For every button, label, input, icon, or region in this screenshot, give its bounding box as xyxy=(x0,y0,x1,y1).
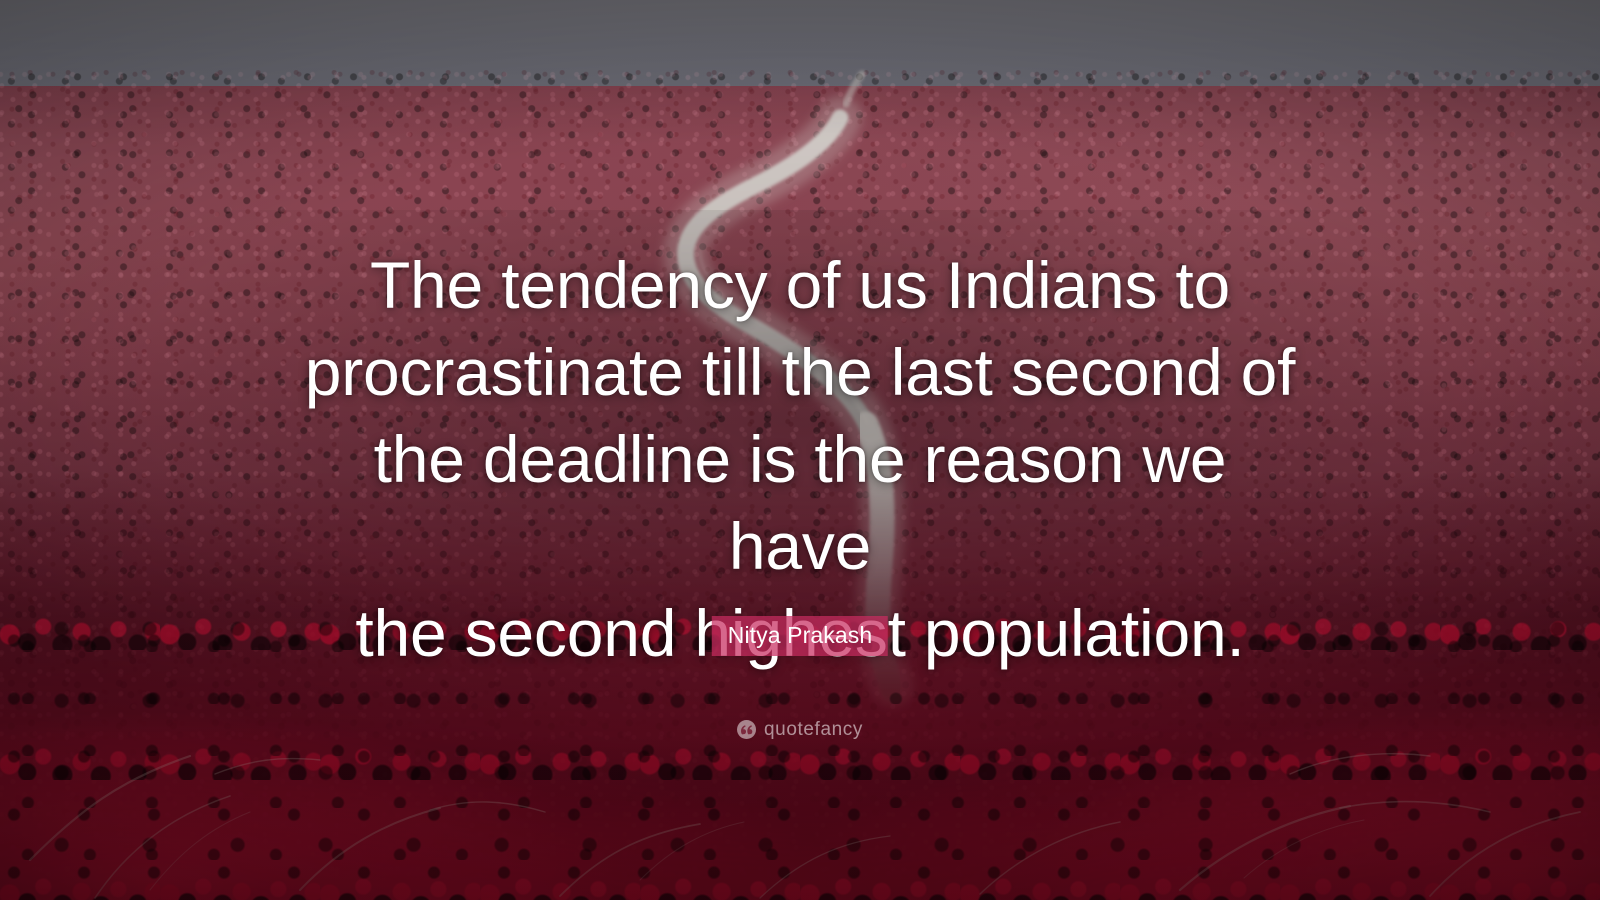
author-badge: Nitya Prakash xyxy=(712,616,888,656)
quote-card: The tendency of us Indians to procrastin… xyxy=(0,0,1600,900)
watermark-text: quotefancy xyxy=(764,720,863,739)
quote-content: The tendency of us Indians to procrastin… xyxy=(0,0,1600,900)
quote-text: The tendency of us Indians to procrastin… xyxy=(300,242,1300,677)
quote-mark-icon xyxy=(737,720,756,739)
watermark: quotefancy xyxy=(737,720,863,739)
